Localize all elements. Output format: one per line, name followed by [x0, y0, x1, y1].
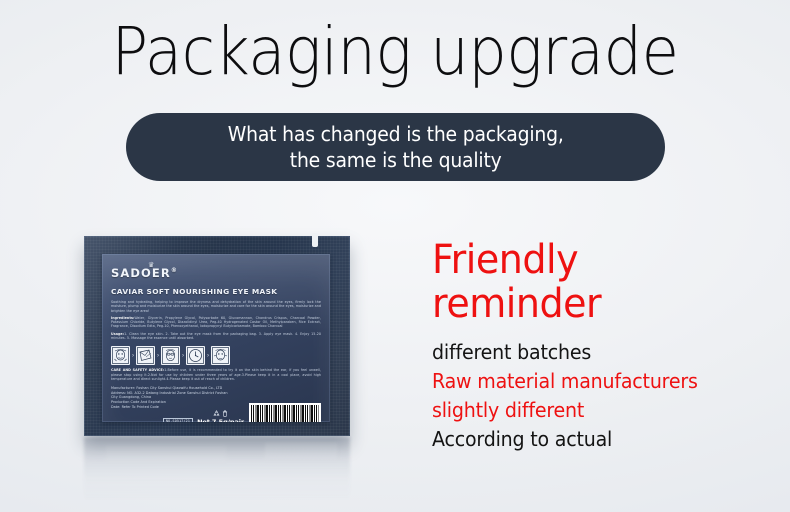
- product-description: Soothing and hydrating, helping to impro…: [111, 300, 321, 313]
- reminder-line-1: different batches: [432, 338, 766, 367]
- net-weight-block: Net 7.5g/pair: [197, 410, 244, 422]
- reminder-line-4: According to actual: [432, 425, 766, 454]
- crown-icon: ♛: [148, 259, 154, 272]
- banner-line-2: the same is the quality: [290, 147, 502, 173]
- brand-logo: ♛SADOER®: [111, 264, 177, 280]
- registered-mark: ®: [171, 267, 177, 274]
- reminder-line-2: Raw material manufacturers: [432, 367, 766, 396]
- eco-icons-row: [197, 410, 244, 417]
- usage-steps-row: › › ›: [111, 346, 321, 365]
- tear-notch: [312, 233, 318, 247]
- care-advice-block: CARE AND SAFETY ADVICE:1.Before use, it …: [111, 368, 321, 381]
- banner-line-1: What has changed is the packaging,: [228, 121, 564, 147]
- massage-face-icon: [211, 346, 230, 365]
- headline-banner: What has changed is the packaging, the s…: [126, 113, 665, 181]
- recycle-icon: [213, 410, 220, 417]
- usage-text: 1. Clean the eye skin. 2. Take out the e…: [111, 332, 321, 340]
- step-arrow-2: ›: [157, 353, 159, 359]
- package-reflection: [84, 437, 350, 503]
- ingredients-text: Water, Glycerin, Propylene Glycol, Polys…: [111, 316, 321, 329]
- bin-icon: [222, 410, 228, 417]
- step-arrow-1: ›: [132, 353, 134, 359]
- lot-code: NO.SQ517/21: [163, 418, 193, 422]
- reminder-list: different batches Raw material manufactu…: [432, 338, 784, 454]
- apply-mask-icon: [161, 346, 180, 365]
- usage-block: Usage:1. Clean the eye skin. 2. Take out…: [111, 332, 321, 341]
- reflection-ghost-barcode: [266, 443, 338, 459]
- open-packet-icon: [136, 346, 155, 365]
- product-package-image: ♛SADOER® CAVIAR SOFT NOURISHING EYE MASK…: [84, 236, 350, 436]
- page-title: Packaging upgrade: [32, 14, 759, 90]
- net-weight: Net 7.5g/pair: [197, 418, 244, 422]
- wait-clock-icon: [186, 346, 205, 365]
- package-label-panel: ♛SADOER® CAVIAR SOFT NOURISHING EYE MASK…: [102, 254, 330, 422]
- step-arrow-4: ›: [207, 353, 209, 359]
- reminder-heading-line-1: Friendly: [432, 238, 766, 282]
- friendly-reminder-block: Friendly reminder different batches Raw …: [432, 238, 784, 454]
- cleanse-face-icon: [111, 346, 130, 365]
- brand-name: SADOER: [111, 266, 171, 280]
- manufacturer-block: Manufacturer: Foshan City Sanshui Qiaowi…: [111, 386, 192, 422]
- barcode-bars: [251, 405, 319, 422]
- production-code-note: Date: Refer To Printed Code: [111, 405, 192, 410]
- package-footer: Manufacturer: Foshan City Sanshui Qiaowi…: [111, 386, 321, 422]
- reminder-line-3: slightly different: [432, 396, 766, 425]
- reminder-heading-line-2: reminder: [432, 282, 766, 326]
- step-arrow-3: ›: [182, 353, 184, 359]
- reflection-ghost-text: [106, 444, 226, 460]
- ingredients-block: Ingredients:Water, Glycerin, Propylene G…: [111, 316, 321, 329]
- barcode: 6972250186792 1: [249, 403, 321, 422]
- product-name: CAVIAR SOFT NOURISHING EYE MASK: [111, 287, 321, 296]
